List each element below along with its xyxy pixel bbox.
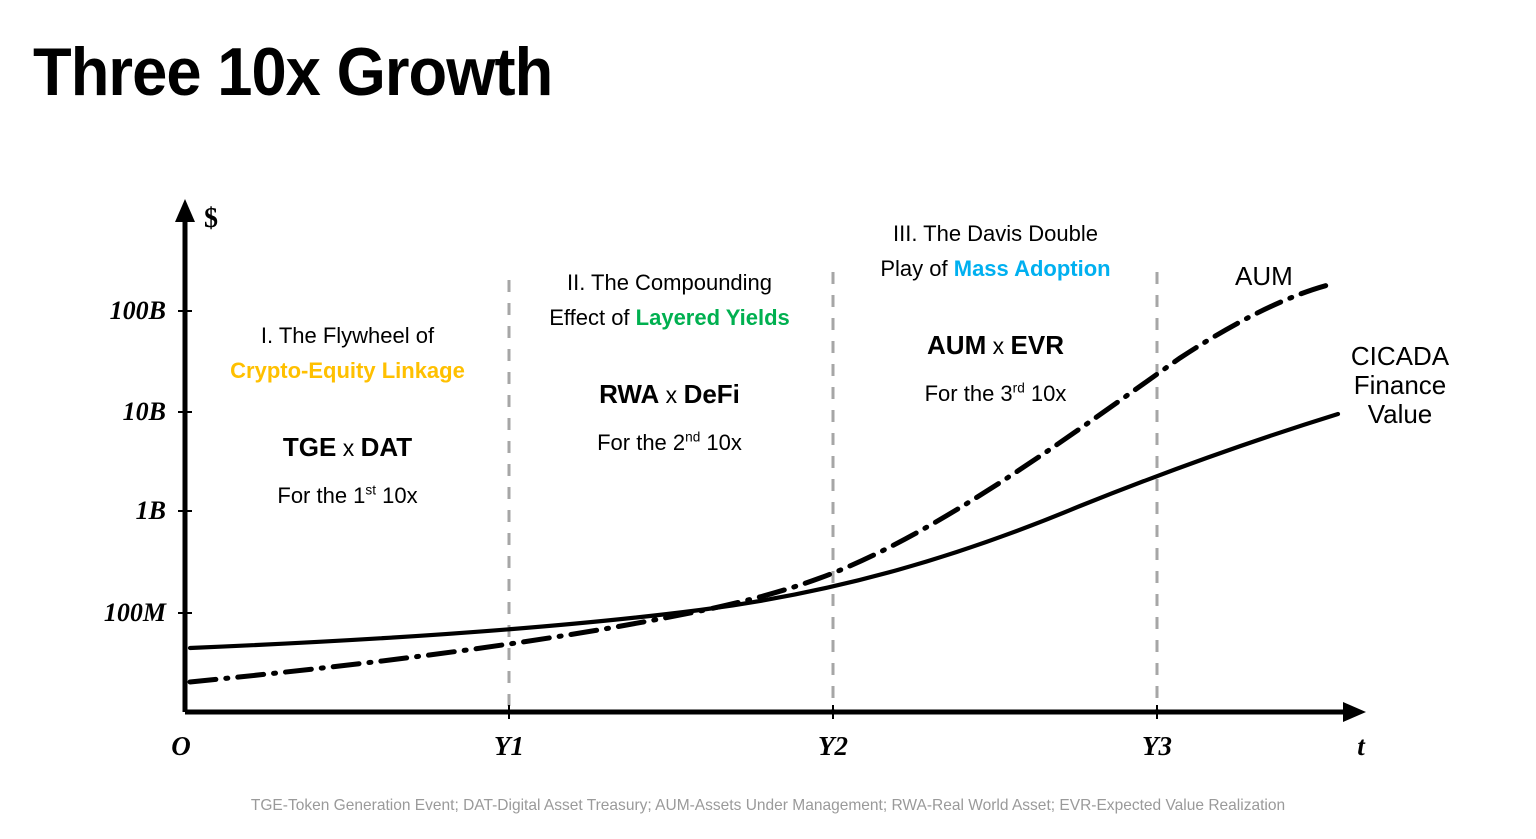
y-tick-label-10b: 10B bbox=[98, 397, 166, 427]
phase-1-sub-prefix: For the 1 bbox=[277, 483, 365, 508]
phase-block-2: II. The Compounding Effect of Layered Yi… bbox=[517, 265, 822, 458]
y-tick-label-100m: 100M bbox=[98, 598, 166, 628]
phase-1-formula: TGE x DAT bbox=[195, 432, 500, 463]
phase-3-sub-suffix: 10x bbox=[1025, 381, 1067, 406]
y-axis bbox=[175, 199, 195, 712]
phase-1-sub-suffix: 10x bbox=[376, 483, 418, 508]
phase-2-sub-ordinal: nd bbox=[685, 430, 700, 445]
phase-2-spacer bbox=[517, 335, 822, 379]
phase-1-sub-ordinal: st bbox=[365, 483, 376, 498]
phase-2-heading-line2: Effect of Layered Yields bbox=[517, 300, 822, 335]
phase-3-spacer bbox=[843, 286, 1148, 330]
phase-3-heading: III. The Davis Double Play of Mass Adopt… bbox=[843, 216, 1148, 286]
curve-label-aum: AUM bbox=[1235, 262, 1293, 291]
phase-2-formula-times: x bbox=[666, 382, 678, 408]
x-tick-label-y2: Y2 bbox=[818, 731, 848, 762]
phase-2-heading-line1: II. The Compounding bbox=[517, 265, 822, 300]
y-tick-label-1b: 1B bbox=[98, 496, 166, 526]
phase-1-heading-line1: I. The Flywheel of bbox=[195, 318, 500, 353]
phase-3-sub-prefix: For the 3 bbox=[925, 381, 1013, 406]
phase-2-formula-left: RWA bbox=[599, 379, 659, 409]
phase-3-formula-left: AUM bbox=[927, 330, 986, 360]
phase-3-heading-line1: III. The Davis Double bbox=[843, 216, 1148, 251]
y-axis-title: $ bbox=[204, 203, 218, 235]
phase-2-sub-suffix: 10x bbox=[700, 430, 742, 455]
x-tick-label-y3: Y3 bbox=[1142, 731, 1172, 762]
phase-3-spacer-2 bbox=[843, 361, 1148, 379]
phase-1-subtext: For the 1st 10x bbox=[195, 481, 500, 511]
phase-2-heading-plain2: Effect of bbox=[549, 305, 635, 330]
phase-1-heading: I. The Flywheel of Crypto-Equity Linkage bbox=[195, 318, 500, 388]
phase-3-subtext: For the 3rd 10x bbox=[843, 379, 1148, 409]
phase-2-spacer-2 bbox=[517, 410, 822, 428]
phase-3-heading-line2: Play of Mass Adoption bbox=[843, 251, 1148, 286]
phase-2-subtext: For the 2nd 10x bbox=[517, 428, 822, 458]
phase-3-formula-right: EVR bbox=[1011, 330, 1064, 360]
phase-3-formula-times: x bbox=[993, 333, 1005, 359]
curve-label-cicada-line3: Value bbox=[1345, 400, 1455, 429]
phase-1-formula-times: x bbox=[343, 435, 355, 461]
phase-2-formula-right: DeFi bbox=[684, 379, 740, 409]
footnote-abbreviations: TGE-Token Generation Event; DAT-Digital … bbox=[23, 797, 1513, 815]
curve-label-cicada-finance-value: CICADA Finance Value bbox=[1345, 342, 1455, 429]
slide-canvas: Three 10x Growth bbox=[0, 0, 1536, 839]
phase-2-formula: RWA x DeFi bbox=[517, 379, 822, 410]
phase-1-heading-accent: Crypto-Equity Linkage bbox=[195, 353, 500, 388]
phase-1-spacer-2 bbox=[195, 463, 500, 481]
curve-label-cicada-line1: CICADA bbox=[1345, 342, 1455, 371]
x-tick-label-y1: Y1 bbox=[494, 731, 524, 762]
phase-2-heading-accent: Layered Yields bbox=[636, 305, 790, 330]
x-tick-label-origin: O bbox=[171, 731, 191, 762]
phase-block-1: I. The Flywheel of Crypto-Equity Linkage… bbox=[195, 318, 500, 511]
phase-block-3: III. The Davis Double Play of Mass Adopt… bbox=[843, 216, 1148, 409]
phase-2-heading: II. The Compounding Effect of Layered Yi… bbox=[517, 265, 822, 335]
y-tick-label-100b: 100B bbox=[98, 296, 166, 326]
phase-1-spacer bbox=[195, 388, 500, 432]
phase-1-formula-left: TGE bbox=[283, 432, 336, 462]
phase-3-sub-ordinal: rd bbox=[1013, 381, 1025, 396]
phase-3-formula: AUM x EVR bbox=[843, 330, 1148, 361]
phase-3-heading-plain2: Play of bbox=[880, 256, 953, 281]
phase-1-formula-right: DAT bbox=[361, 432, 413, 462]
x-axis-title: t bbox=[1357, 731, 1365, 762]
curve-label-cicada-line2: Finance bbox=[1345, 371, 1455, 400]
page-title: Three 10x Growth bbox=[33, 30, 552, 114]
x-axis bbox=[185, 702, 1366, 722]
phase-3-heading-accent: Mass Adoption bbox=[954, 256, 1111, 281]
phase-2-sub-prefix: For the 2 bbox=[597, 430, 685, 455]
